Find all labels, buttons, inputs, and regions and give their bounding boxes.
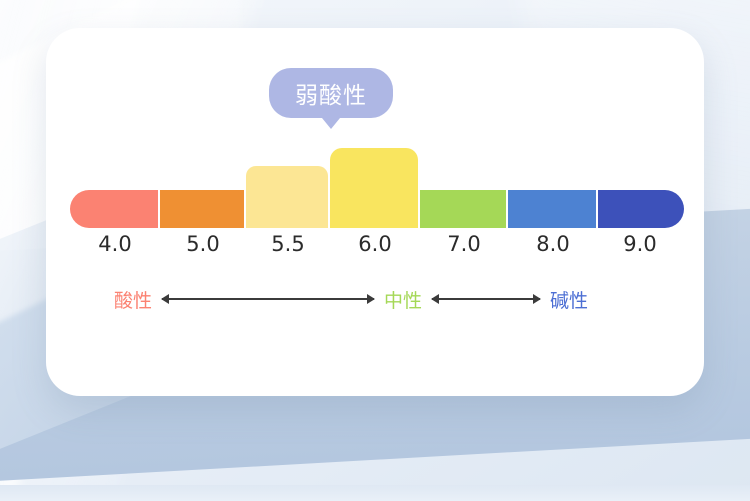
tooltip-bubble: 弱酸性 [269, 68, 393, 118]
legend-label-acidic: 酸性 [114, 286, 152, 313]
arrow-neutral-to-alkaline-icon [432, 298, 540, 300]
ph-tick-7-0: 7.0 [420, 232, 508, 256]
ph-tick-9-0: 9.0 [598, 232, 682, 256]
ph-tick-5-5: 5.5 [246, 232, 330, 256]
ph-segment-6-0[interactable] [330, 148, 418, 228]
ph-segment-9-0[interactable] [598, 190, 684, 228]
page-background: 弱酸性 4.0 5.0 5.5 6.0 7.0 8.0 9.0 [0, 0, 750, 501]
ph-segment-4-0[interactable] [70, 190, 158, 228]
ph-tick-6-0: 6.0 [330, 232, 420, 256]
legend-label-neutral: 中性 [384, 286, 422, 313]
ph-segment-7-0[interactable] [420, 190, 506, 228]
ph-status-tooltip: 弱酸性 [269, 68, 393, 129]
tooltip-label: 弱酸性 [295, 76, 367, 110]
ph-segment-track [70, 136, 682, 228]
ph-segment-5-5[interactable] [246, 166, 328, 228]
ph-scale-card: 弱酸性 4.0 5.0 5.5 6.0 7.0 8.0 9.0 [46, 28, 704, 396]
ph-tick-4-0: 4.0 [70, 232, 160, 256]
legend-label-alkaline: 碱性 [550, 286, 588, 313]
background-bottom-strip [0, 485, 750, 501]
ph-segment-8-0[interactable] [508, 190, 596, 228]
tooltip-pointer-icon [322, 118, 340, 129]
ph-tick-labels: 4.0 5.0 5.5 6.0 7.0 8.0 9.0 [70, 232, 682, 256]
ph-scale-bar [70, 136, 682, 228]
ph-legend: 酸性 中性 碱性 [70, 286, 682, 312]
ph-tick-8-0: 8.0 [508, 232, 598, 256]
ph-tick-5-0: 5.0 [160, 232, 246, 256]
ph-segment-5-0[interactable] [160, 190, 244, 228]
arrow-acidic-to-neutral-icon [162, 298, 374, 300]
